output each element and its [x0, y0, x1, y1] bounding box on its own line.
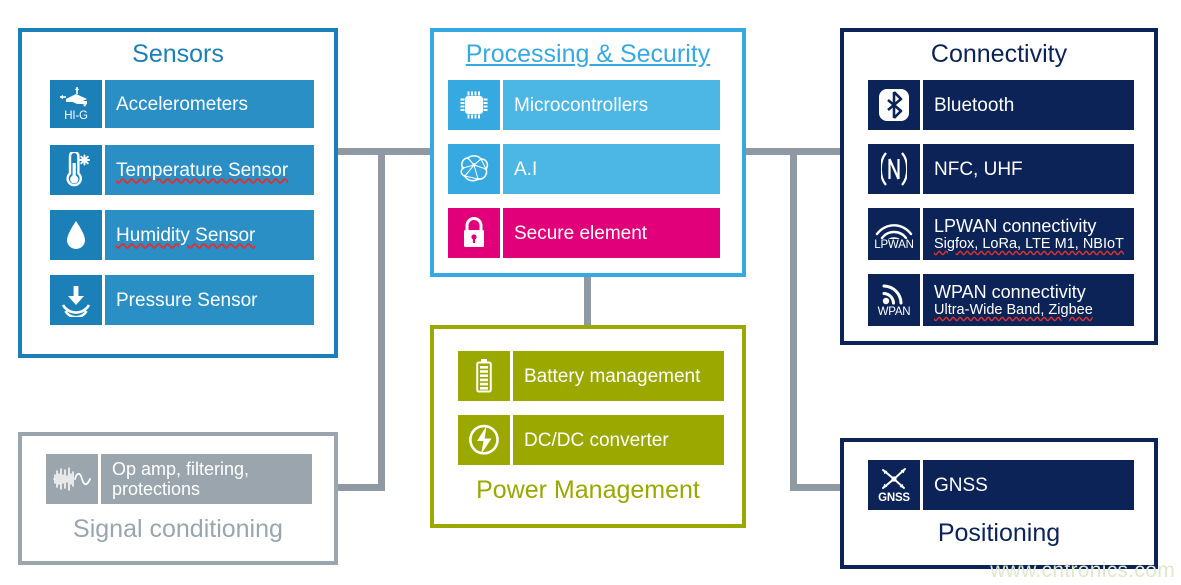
item-label: A.I — [514, 159, 720, 180]
item-dcdc-converter[interactable]: DC/DC converter — [458, 415, 724, 465]
item-label: NFC, UHF — [934, 159, 1134, 180]
item-text: A.I — [503, 144, 720, 194]
item-battery-management[interactable]: Battery management — [458, 351, 724, 401]
wpan-icon-label: WPAN — [878, 307, 911, 319]
item-label: Humidity Sensor — [116, 225, 314, 246]
connector-processing-to-power — [584, 277, 591, 327]
item-pressure-sensor[interactable]: Pressure Sensor — [50, 275, 314, 325]
connector-right-to-positioning — [790, 484, 842, 491]
item-text: GNSS — [923, 460, 1134, 510]
item-wpan-connectivity[interactable]: WPAN WPAN connectivity Ultra-Wide Band, … — [868, 274, 1134, 326]
group-title-positioning: Positioning — [844, 520, 1154, 546]
watermark: www.cntronics.com — [990, 559, 1175, 583]
item-humidity-sensor[interactable]: Humidity Sensor — [50, 210, 314, 260]
item-label: LPWAN connectivity — [934, 216, 1134, 236]
item-sublabel: Sigfox, LoRa, LTE M1, NBIoT — [934, 236, 1134, 252]
item-label: Pressure Sensor — [116, 290, 314, 311]
battery-icon — [458, 351, 510, 401]
wifi-arc-icon: LPWAN — [868, 208, 920, 260]
bluetooth-icon — [868, 80, 920, 130]
item-label: Temperature Sensor — [116, 160, 314, 181]
item-label: Accelerometers — [116, 94, 314, 115]
item-text: NFC, UHF — [923, 144, 1134, 194]
item-ai[interactable]: A.I — [448, 144, 720, 194]
group-title-signal: Signal conditioning — [22, 516, 334, 542]
item-label: Secure element — [514, 223, 720, 244]
group-processing-security: Processing & Security — [430, 28, 746, 277]
item-label: WPAN connectivity — [934, 282, 1134, 302]
item-label-line1: Op amp, filtering, — [112, 459, 312, 479]
water-drop-icon — [50, 210, 102, 260]
item-text: Humidity Sensor — [105, 210, 314, 260]
item-text: Temperature Sensor — [105, 145, 314, 195]
group-title-connectivity: Connectivity — [844, 41, 1154, 67]
lightning-bolt-icon — [458, 415, 510, 465]
rss-signal-icon: WPAN — [868, 274, 920, 326]
item-text: DC/DC converter — [513, 415, 724, 465]
item-temperature-sensor[interactable]: Temperature Sensor — [50, 145, 314, 195]
item-text: Op amp, filtering, protections — [101, 454, 312, 504]
group-connectivity: Connectivity Bluetooth — [840, 28, 1158, 345]
item-gnss[interactable]: GNSS GNSS — [868, 460, 1134, 510]
brain-icon — [448, 144, 500, 194]
connector-left-to-signal — [338, 484, 385, 491]
group-signal-conditioning: Op amp, filtering, protections Signal co… — [18, 432, 338, 565]
padlock-icon — [448, 208, 500, 258]
group-power-management: Battery management DC/DC converter Power… — [430, 325, 746, 528]
nfc-icon — [868, 144, 920, 194]
diagram-canvas: Sensors HI-G — [0, 0, 1181, 585]
item-text: Secure element — [503, 208, 720, 258]
item-text: Pressure Sensor — [105, 275, 314, 325]
item-nfc-uhf[interactable]: NFC, UHF — [868, 144, 1134, 194]
group-positioning: GNSS GNSS Positioning — [840, 438, 1158, 569]
lpwan-icon-label: LPWAN — [874, 240, 913, 252]
chip-icon — [448, 80, 500, 130]
item-label: GNSS — [934, 475, 1134, 496]
item-op-amp-filtering-protections[interactable]: Op amp, filtering, protections — [46, 454, 312, 504]
accelerometer-icon-label: HI-G — [64, 111, 87, 123]
item-label: DC/DC converter — [524, 430, 724, 451]
item-text: Microcontrollers — [503, 80, 720, 130]
item-accelerometers[interactable]: HI-G Accelerometers — [50, 80, 314, 128]
connector-sensors-to-processing — [338, 148, 432, 155]
item-text: WPAN connectivity Ultra-Wide Band, Zigbe… — [923, 274, 1134, 326]
item-label: Bluetooth — [934, 95, 1134, 116]
group-title-sensors: Sensors — [22, 41, 334, 67]
item-label: Battery management — [524, 366, 724, 387]
pressure-icon — [50, 275, 102, 325]
waveform-icon — [46, 454, 98, 504]
item-sublabel: Ultra-Wide Band, Zigbee — [934, 302, 1134, 318]
item-text: LPWAN connectivity Sigfox, LoRa, LTE M1,… — [923, 208, 1134, 260]
item-label-line2: protections — [112, 479, 312, 499]
accelerometer-icon: HI-G — [50, 80, 102, 128]
group-title-power: Power Management — [434, 477, 742, 503]
item-text: Accelerometers — [105, 80, 314, 128]
item-secure-element[interactable]: Secure element — [448, 208, 720, 258]
satellite-compass-icon: GNSS — [868, 460, 920, 510]
connector-left-vertical — [378, 148, 385, 490]
item-microcontrollers[interactable]: Microcontrollers — [448, 80, 720, 130]
connector-right-vertical — [790, 148, 797, 490]
item-bluetooth[interactable]: Bluetooth — [868, 80, 1134, 130]
item-text: Battery management — [513, 351, 724, 401]
group-sensors: Sensors HI-G — [18, 28, 338, 358]
item-label: Microcontrollers — [514, 95, 720, 116]
item-text: Bluetooth — [923, 80, 1134, 130]
item-lpwan-connectivity[interactable]: LPWAN LPWAN connectivity Sigfox, LoRa, L… — [868, 208, 1134, 260]
group-title-processing: Processing & Security — [434, 41, 742, 67]
thermometer-icon — [50, 145, 102, 195]
gnss-icon-label: GNSS — [878, 493, 910, 505]
